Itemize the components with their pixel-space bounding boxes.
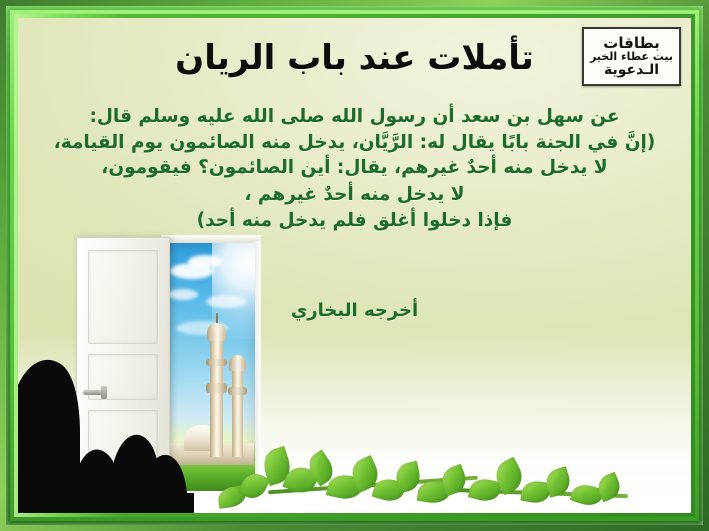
card-page-surface: بطاقات بيت عطاء الخير الـدعوية تأملات عن… bbox=[18, 18, 691, 513]
hadith-attribution: أخرجه البخاري bbox=[18, 300, 691, 321]
cloud-icon bbox=[168, 289, 198, 300]
islamic-ramadan-card: بطاقات بيت عطاء الخير الـدعوية تأملات عن… bbox=[0, 0, 709, 531]
hadith-line-1: عن سهل بن سعد أن رسول الله صلى الله عليه… bbox=[48, 104, 661, 130]
illustration-scene bbox=[18, 203, 691, 513]
hadith-line-2: (إنَّ في الجنة بابًا يقال له: الرَّيَّان… bbox=[48, 130, 661, 156]
cloud-icon bbox=[188, 255, 222, 268]
hadith-line-5: فإذا دخلوا أغلق فلم يدخل منه أحد) bbox=[48, 208, 661, 234]
door-lintel bbox=[161, 235, 261, 243]
hadith-line-4: لا يدخل منه أحدٌ غيرهم ، bbox=[48, 182, 661, 208]
foliage-silhouette bbox=[18, 323, 248, 513]
card-title: تأملات عند باب الريان bbox=[18, 38, 691, 78]
hadith-text: عن سهل بن سعد أن رسول الله صلى الله عليه… bbox=[48, 104, 661, 234]
hadith-line-3: لا يدخل منه أحدٌ غيرهم، يقال: أين الصائم… bbox=[48, 155, 661, 181]
